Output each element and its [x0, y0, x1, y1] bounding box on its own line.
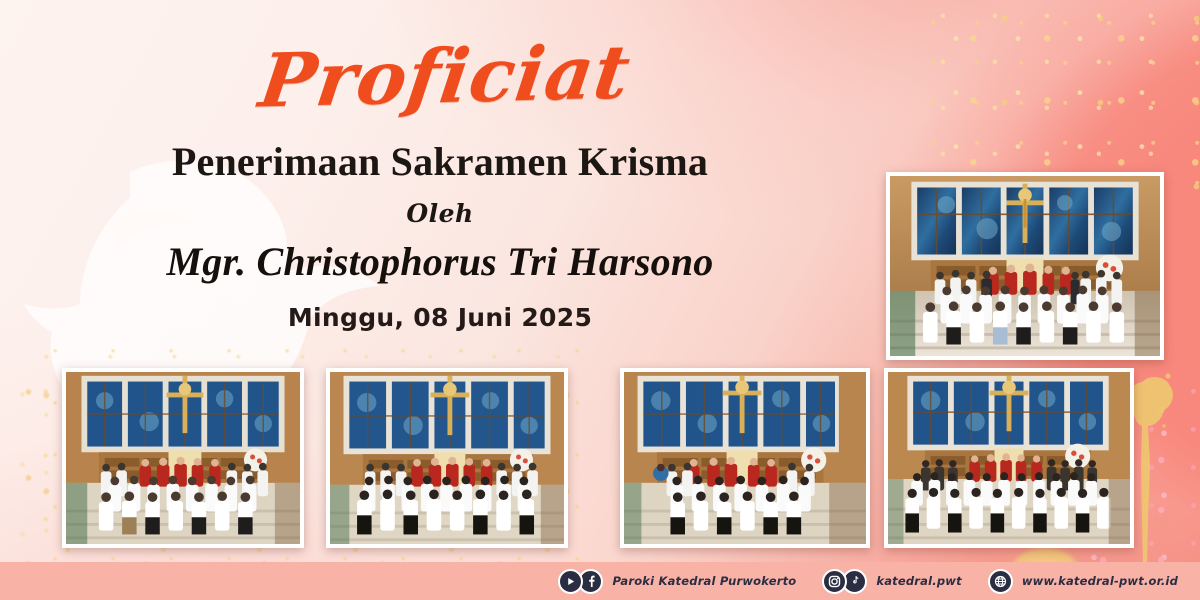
- church-group-photo-illustration: [624, 372, 866, 544]
- page-title: Penerimaan Sakramen Krisma: [0, 138, 880, 185]
- poster-canvas: Proficiat Penerimaan Sakramen Krisma Ole…: [0, 0, 1200, 600]
- social-group-katedralpwt: katedral.pwt: [822, 569, 987, 594]
- church-group-photo-illustration: [66, 372, 300, 544]
- youtube-icon[interactable]: [558, 569, 583, 594]
- social-group-website: www.katedral-pwt.or.id: [988, 569, 1178, 594]
- globe-icon[interactable]: [988, 569, 1013, 594]
- celebrant-name: Mgr. Christophorus Tri Harsono: [0, 238, 880, 285]
- social-label-paroki: Paroki Katedral Purwokerto: [612, 574, 796, 588]
- photo-2: [326, 368, 568, 548]
- church-group-photo-illustration: [888, 372, 1130, 544]
- proficiat-script-heading: Proficiat: [3, 29, 886, 124]
- photo-1: [62, 368, 304, 548]
- social-group-paroki: Paroki Katedral Purwokerto: [558, 569, 822, 594]
- photo-3: [620, 368, 870, 548]
- instagram-icon[interactable]: [822, 569, 847, 594]
- footer-contact-bar: Paroki Katedral Purwokerto katedral.pwt: [0, 562, 1200, 600]
- by-label: Oleh: [0, 199, 880, 228]
- social-label-katedralpwt: katedral.pwt: [876, 574, 961, 588]
- social-label-website: www.katedral-pwt.or.id: [1022, 574, 1178, 588]
- photo-top-right: [886, 172, 1164, 360]
- event-date: Minggu, 08 Juni 2025: [0, 303, 880, 332]
- photo-4: [884, 368, 1134, 548]
- church-group-photo-illustration: [330, 372, 564, 544]
- headline-block: Proficiat Penerimaan Sakramen Krisma Ole…: [0, 0, 880, 332]
- church-group-photo-illustration: [890, 176, 1160, 356]
